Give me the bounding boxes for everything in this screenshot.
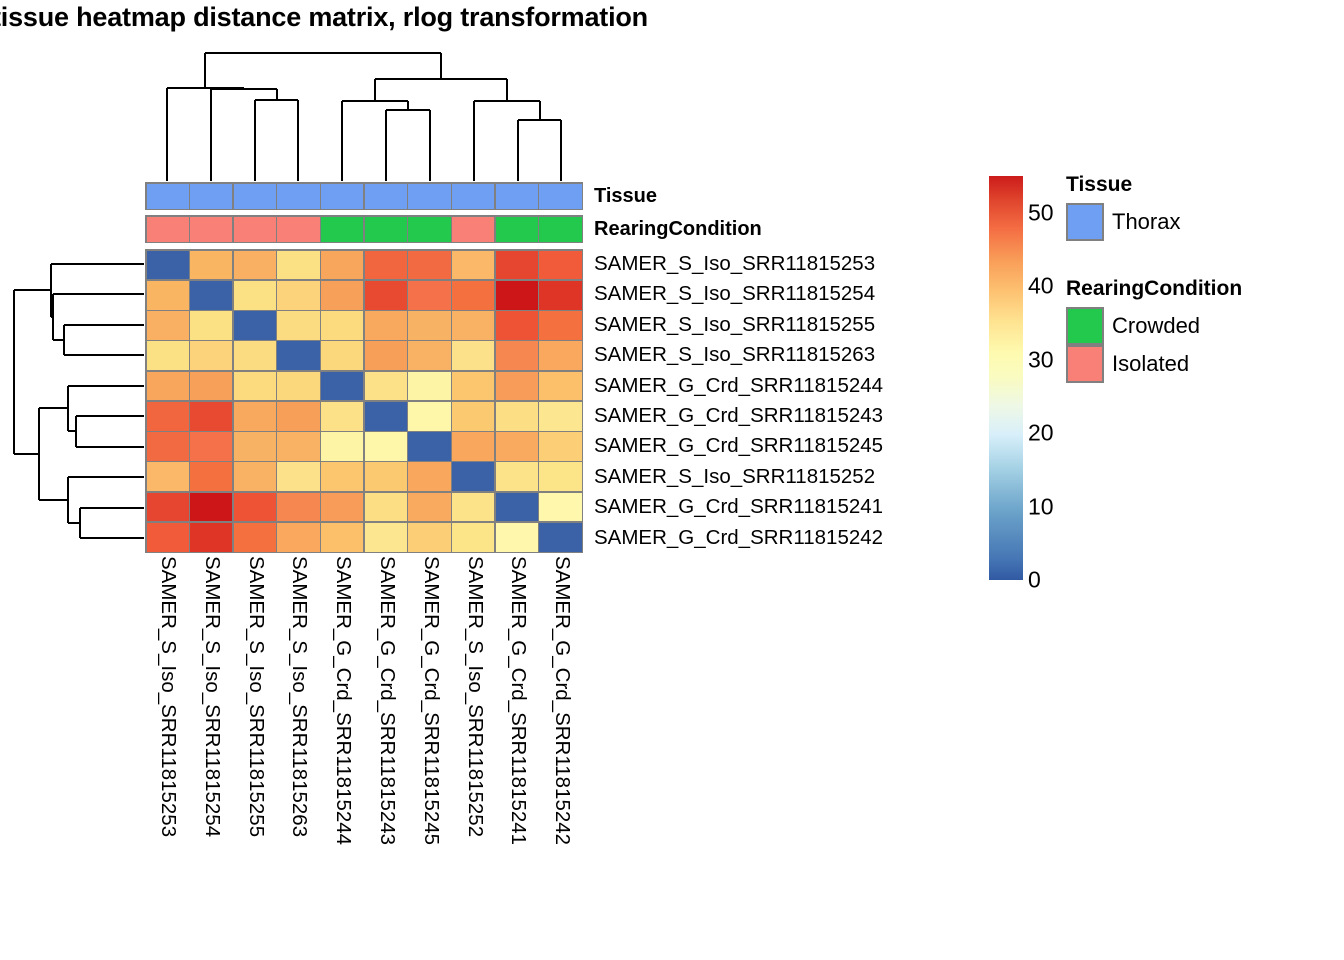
heatmap-cell [147, 311, 189, 340]
heatmap-cell [147, 251, 189, 280]
heatmap-cell [321, 493, 363, 522]
heatmap-cell [190, 251, 232, 280]
annotation-cell-rearing [408, 217, 450, 242]
heatmap-cell [321, 281, 363, 310]
row-label: SAMER_S_Iso_SRR11815255 [594, 310, 875, 340]
heatmap-cell [539, 311, 581, 340]
row-label: SAMER_G_Crd_SRR11815242 [594, 523, 883, 553]
row-label: SAMER_S_Iso_SRR11815253 [594, 249, 875, 279]
heatmap-cell [496, 311, 538, 340]
heatmap-cell [365, 523, 407, 552]
legend-title-tissue: Tissue [1066, 173, 1132, 197]
legend-label-crowded: Crowded [1112, 307, 1200, 345]
annotation-cell-tissue [190, 184, 232, 209]
annotation-bar-rearing [145, 215, 583, 243]
heatmap-cell [452, 432, 494, 461]
colorbar-tick-label: 20 [1028, 420, 1054, 447]
heatmap-cell [321, 462, 363, 491]
heatmap-cell [234, 432, 276, 461]
heatmap-cell [234, 372, 276, 401]
row-label: SAMER_G_Crd_SRR11815244 [594, 371, 883, 401]
heatmap-cell [321, 311, 363, 340]
legend-swatch-isolated [1066, 345, 1104, 383]
annotation-label-tissue: Tissue [594, 185, 657, 208]
row-labels: SAMER_S_Iso_SRR11815253SAMER_S_Iso_SRR11… [594, 249, 1014, 553]
heatmap-cell [277, 341, 319, 370]
row-label: SAMER_S_Iso_SRR11815254 [594, 279, 875, 309]
heatmap-cell [452, 251, 494, 280]
annotation-cell-rearing [277, 217, 319, 242]
heatmap-cell [234, 523, 276, 552]
heatmap-cell [234, 281, 276, 310]
heatmap-cell [190, 341, 232, 370]
heatmap-cell [539, 523, 581, 552]
annotation-cell-tissue [452, 184, 494, 209]
heatmap-cell [365, 462, 407, 491]
heatmap-cell [452, 493, 494, 522]
heatmap-cell [496, 251, 538, 280]
heatmap-cell [277, 462, 319, 491]
heatmap-cell [277, 523, 319, 552]
heatmap-cell [496, 493, 538, 522]
row-label: SAMER_S_Iso_SRR11815252 [594, 462, 875, 492]
heatmap-cell [277, 372, 319, 401]
colorbar-tick-label: 10 [1028, 493, 1054, 520]
heatmap-cell [408, 341, 450, 370]
heatmap-cell [539, 372, 581, 401]
annotation-cell-rearing [147, 217, 189, 242]
heatmap-cell [452, 523, 494, 552]
legend-title-rearingcondition: RearingCondition [1066, 277, 1242, 301]
heatmap-cell [452, 341, 494, 370]
heatmap-cell [190, 281, 232, 310]
heatmap-cell [408, 523, 450, 552]
row-label: SAMER_G_Crd_SRR11815245 [594, 431, 883, 461]
annotation-cell-rearing [190, 217, 232, 242]
row-label: SAMER_S_Iso_SRR11815263 [594, 340, 875, 370]
annotation-cell-rearing [234, 217, 276, 242]
heatmap-cell [147, 372, 189, 401]
heatmap-cell [539, 341, 581, 370]
heatmap-cell [496, 462, 538, 491]
heatmap-cell [190, 311, 232, 340]
heatmap-cell [321, 372, 363, 401]
annotation-cell-rearing [321, 217, 363, 242]
heatmap-cell [408, 462, 450, 491]
annotation-cell-rearing [539, 217, 581, 242]
annotation-cell-tissue [321, 184, 363, 209]
heatmap-cell [234, 402, 276, 431]
heatmap-cell [321, 402, 363, 431]
heatmap-cell [321, 341, 363, 370]
column-label: SAMER_G_Crd_SRR11815243 [375, 556, 399, 845]
heatmap-cell [496, 523, 538, 552]
heatmap-cell [147, 402, 189, 431]
heatmap-cell [234, 341, 276, 370]
column-label: SAMER_G_Crd_SRR11815242 [550, 556, 574, 845]
heatmap-cell [496, 432, 538, 461]
colorbar-tick-label: 0 [1028, 567, 1041, 594]
annotation-cell-rearing [452, 217, 494, 242]
heatmap-cell [539, 493, 581, 522]
row-label: SAMER_G_Crd_SRR11815243 [594, 401, 883, 431]
heatmap-cell [147, 432, 189, 461]
heatmap-cell [147, 493, 189, 522]
annotation-cell-tissue [365, 184, 407, 209]
heatmap-cell [408, 251, 450, 280]
column-label: SAMER_S_Iso_SRR11815253 [156, 556, 180, 837]
heatmap-cell [539, 281, 581, 310]
heatmap-cell [277, 402, 319, 431]
annotation-cell-tissue [277, 184, 319, 209]
heatmap-cell [147, 281, 189, 310]
colorbar-tick-label: 50 [1028, 199, 1054, 226]
heatmap-cell [365, 372, 407, 401]
annotation-cell-tissue [496, 184, 538, 209]
heatmap-cell [496, 281, 538, 310]
annotation-cell-tissue [539, 184, 581, 209]
heatmap-cell [408, 402, 450, 431]
heatmap-cell [452, 311, 494, 340]
heatmap-cell [408, 432, 450, 461]
legend-label-thorax: Thorax [1112, 203, 1180, 241]
heatmap-cell [365, 281, 407, 310]
column-label: SAMER_G_Crd_SRR11815245 [419, 556, 443, 845]
heatmap-cell [365, 432, 407, 461]
heatmap-cell [321, 523, 363, 552]
heatmap-cell [277, 251, 319, 280]
colorbar-gradient [989, 176, 1023, 580]
column-label: SAMER_G_Crd_SRR11815241 [506, 556, 530, 845]
colorbar-tick-label: 40 [1028, 273, 1054, 300]
heatmap-cell [190, 432, 232, 461]
heatmap-cell [408, 281, 450, 310]
heatmap-cell [452, 462, 494, 491]
heatmap-matrix [145, 249, 583, 553]
heatmap-cell [277, 493, 319, 522]
heatmap-cell [190, 462, 232, 491]
page-title: tissue heatmap distance matrix, rlog tra… [0, 2, 992, 33]
annotation-cell-rearing [365, 217, 407, 242]
legend-swatch-thorax [1066, 203, 1104, 241]
heatmap-cell [496, 372, 538, 401]
column-label: SAMER_S_Iso_SRR11815252 [463, 556, 487, 837]
annotation-cell-tissue [147, 184, 189, 209]
heatmap-cell [234, 311, 276, 340]
annotation-cell-rearing [496, 217, 538, 242]
heatmap-cell [539, 462, 581, 491]
heatmap-cell [277, 281, 319, 310]
heatmap-cell [365, 251, 407, 280]
heatmap-cell [496, 341, 538, 370]
heatmap-cell [147, 341, 189, 370]
heatmap-cell [452, 372, 494, 401]
heatmap-cell [147, 462, 189, 491]
heatmap-cell [365, 341, 407, 370]
heatmap-cell [147, 523, 189, 552]
column-label: SAMER_S_Iso_SRR11815254 [200, 556, 224, 837]
heatmap-cell [190, 523, 232, 552]
heatmap-cell [190, 372, 232, 401]
heatmap-cell [408, 372, 450, 401]
heatmap-cell [321, 251, 363, 280]
legend-swatch-crowded [1066, 307, 1104, 345]
column-label: SAMER_S_Iso_SRR11815255 [244, 556, 268, 837]
legend-label-isolated: Isolated [1112, 345, 1189, 383]
heatmap-cell [452, 402, 494, 431]
column-labels: SAMER_S_Iso_SRR11815253SAMER_S_Iso_SRR11… [145, 556, 583, 956]
heatmap-cell [277, 432, 319, 461]
colorbar-tick-label: 30 [1028, 346, 1054, 373]
heatmap-cell [277, 311, 319, 340]
heatmap-cell [321, 432, 363, 461]
heatmap-cell [539, 251, 581, 280]
heatmap-cell [408, 493, 450, 522]
heatmap-cell [452, 281, 494, 310]
heatmap-cell [408, 311, 450, 340]
heatmap-cell [365, 402, 407, 431]
annotation-cell-tissue [234, 184, 276, 209]
heatmap-cell [539, 432, 581, 461]
column-label: SAMER_S_Iso_SRR11815263 [287, 556, 311, 837]
row-label: SAMER_G_Crd_SRR11815241 [594, 492, 883, 522]
heatmap-cell [190, 493, 232, 522]
heatmap-cell [234, 462, 276, 491]
heatmap-cell [539, 402, 581, 431]
heatmap-cell [234, 493, 276, 522]
heatmap-cell [496, 402, 538, 431]
heatmap-cell [365, 311, 407, 340]
annotation-label-rearing: RearingCondition [594, 218, 762, 241]
annotation-bar-tissue [145, 182, 583, 210]
heatmap-cell [190, 402, 232, 431]
heatmap-cell [365, 493, 407, 522]
column-label: SAMER_G_Crd_SRR11815244 [331, 556, 355, 845]
heatmap-cell [234, 251, 276, 280]
annotation-cell-tissue [408, 184, 450, 209]
